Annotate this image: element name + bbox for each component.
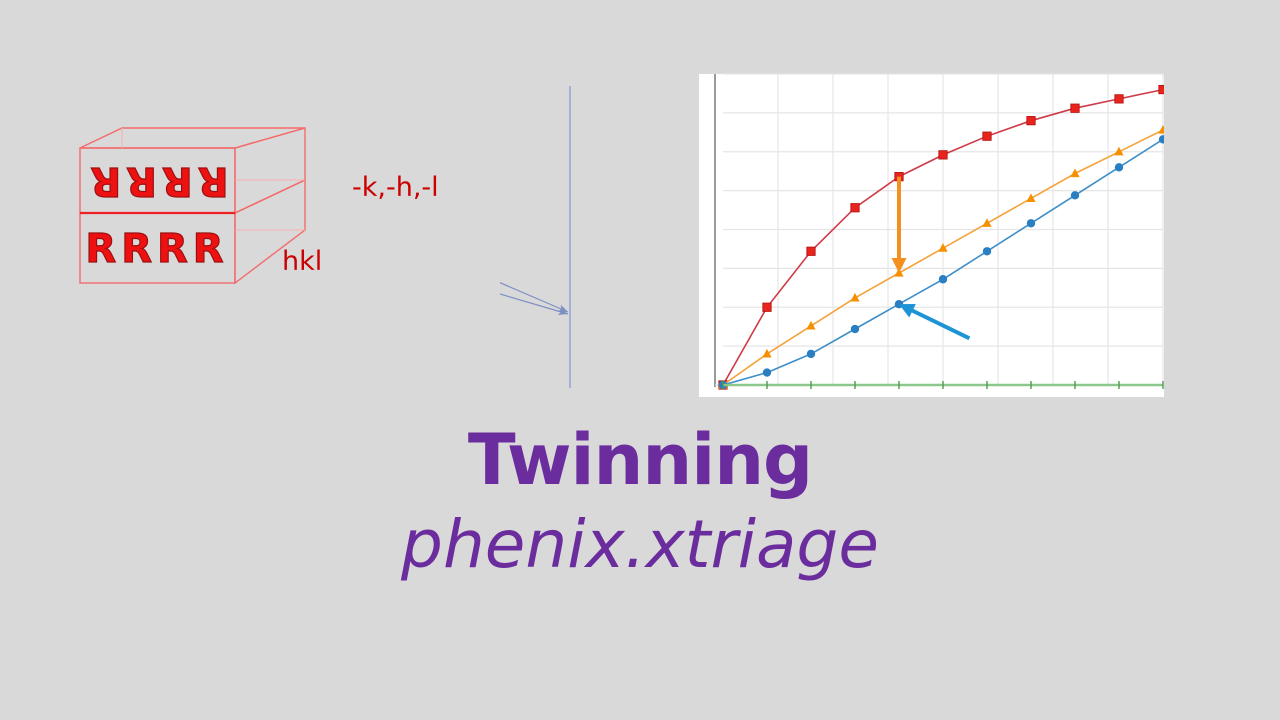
mirror-svg: [500, 60, 640, 410]
page-subtitle: phenix.xtriage: [0, 507, 1280, 583]
chart-marker-square: [1115, 95, 1123, 103]
slide-canvas: RRRR RRRR -k,-h,-l hkl Twinning: [0, 0, 1280, 720]
chart-marker-circle: [1115, 163, 1123, 171]
chart-marker-square: [1027, 116, 1035, 124]
chart-marker-square: [1159, 85, 1164, 93]
chart-marker-circle: [1027, 219, 1035, 227]
bottom-domain-letters-text: RRRR: [85, 226, 228, 272]
chart-marker-circle: [983, 247, 991, 255]
title-block: Twinning phenix.xtriage: [0, 425, 1280, 583]
chart-annotation-shaft-blue-left-arrow: [910, 309, 970, 338]
chart-marker-triangle: [850, 293, 859, 302]
chart-marker-square: [851, 204, 859, 212]
chart-marker-triangle: [1070, 169, 1079, 178]
top-domain-letters: RRRR: [85, 158, 228, 204]
chart-marker-circle: [1071, 191, 1079, 199]
chart-marker-triangle: [762, 349, 771, 358]
twin-operator-arrow: [500, 180, 568, 312]
original-index-arrow: [500, 224, 568, 314]
chart-svg: [694, 69, 1164, 397]
chart-marker-square: [939, 151, 947, 159]
twin-operator-label: -k,-h,-l: [352, 172, 439, 203]
top-domain-letters-text: RRRR: [85, 158, 228, 204]
chart-marker-circle: [763, 368, 771, 376]
chart-marker-triangle: [982, 218, 991, 227]
chart-marker-triangle: [938, 243, 947, 252]
twinning-intensity-chart: [694, 69, 1164, 397]
page-title: Twinning: [0, 425, 1280, 495]
chart-marker-triangle: [1026, 193, 1035, 202]
chart-marker-triangle: [1158, 125, 1164, 134]
chart-marker-triangle: [806, 321, 815, 330]
mirror-plane-and-arrows: [500, 60, 640, 410]
chart-marker-circle: [807, 350, 815, 358]
chart-marker-square: [1071, 104, 1079, 112]
chart-marker-circle: [939, 275, 947, 283]
chart-marker-circle: [851, 325, 859, 333]
original-index-label: hkl: [282, 246, 322, 277]
chart-marker-square: [763, 303, 771, 311]
chart-marker-square: [807, 247, 815, 255]
chart-marker-square: [983, 132, 991, 140]
